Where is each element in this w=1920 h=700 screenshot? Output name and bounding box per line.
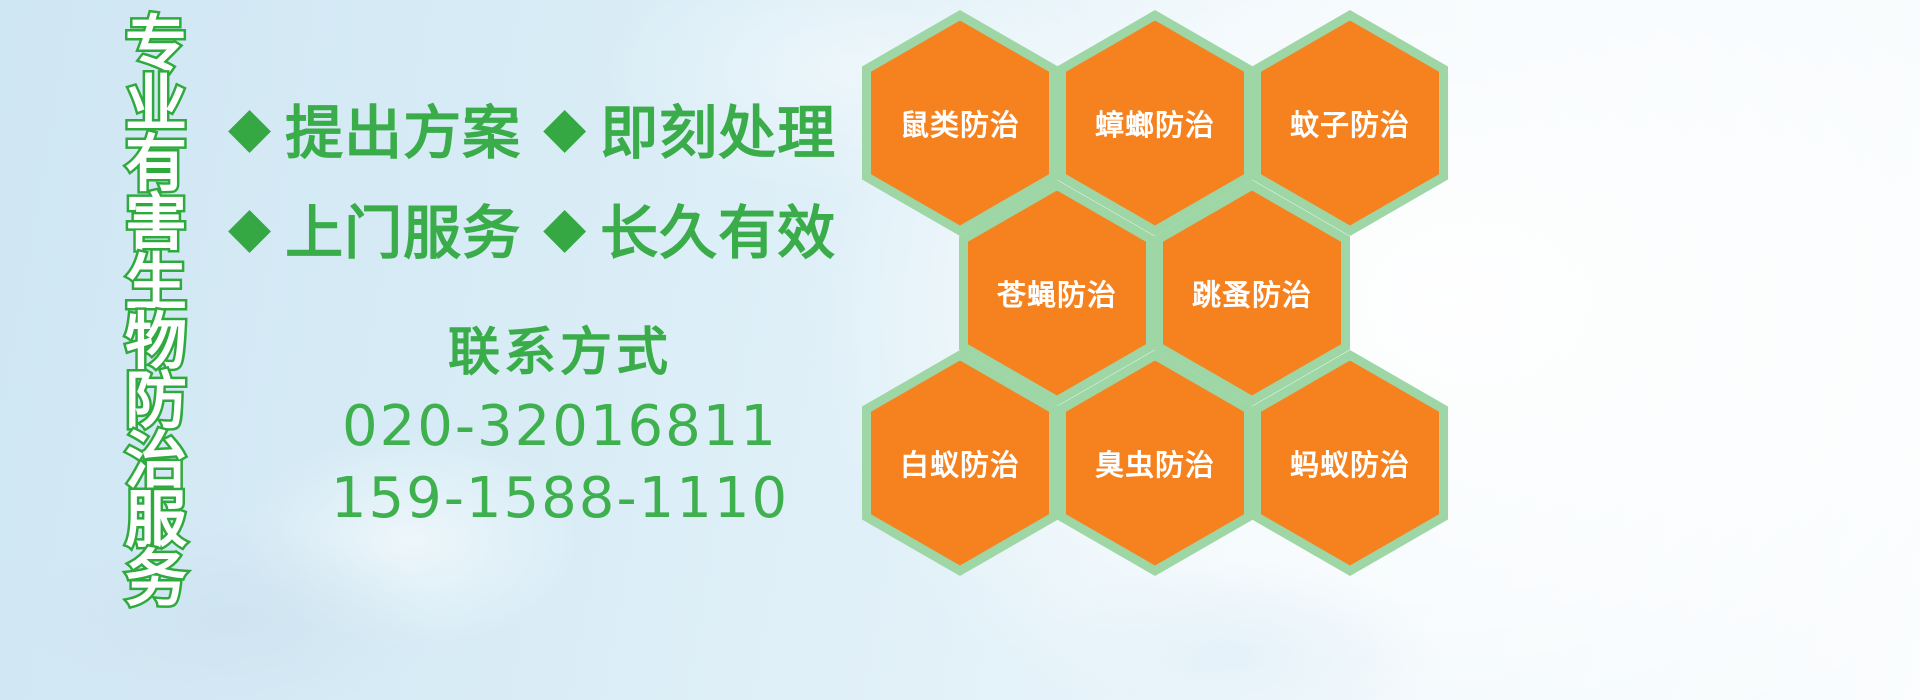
service-hex-fill: 蚊子防治: [1261, 21, 1439, 226]
service-hex-fill: 跳蚤防治: [1163, 191, 1341, 396]
vertical-headline-char: 治: [125, 430, 187, 491]
diamond-bullet-icon: ◆: [228, 100, 271, 156]
vertical-headline: 专 业 有 害 生 物 防 治 服 务: [108, 14, 204, 608]
pest-control-banner: 专 业 有 害 生 物 防 治 服 务 ◆ 提出方案 ◆ 即刻处理 ◆ 上门服务: [0, 0, 1920, 700]
background-blob: [20, 520, 440, 700]
service-hex-fill: 蚂蚁防治: [1261, 361, 1439, 566]
service-hex-label: 苍蝇防治: [997, 272, 1117, 314]
phone-number-landline[interactable]: 020-32016811: [300, 391, 820, 463]
background-blob: [1020, 560, 1440, 700]
phone-number-mobile[interactable]: 159-1588-1110: [300, 463, 820, 535]
service-hex-label: 蟑螂防治: [1095, 102, 1215, 144]
feature-bullet-label: 上门服务: [285, 186, 521, 270]
feature-bullet-label: 长久有效: [600, 186, 836, 270]
service-hex-fill: 白蚁防治: [871, 361, 1049, 566]
service-hex-label: 蚂蚁防治: [1290, 442, 1410, 484]
feature-bullet-item: ◆ 提出方案: [228, 86, 521, 170]
service-hex-label: 臭虫防治: [1095, 442, 1215, 484]
service-hex-label: 跳蚤防治: [1192, 272, 1312, 314]
feature-bullet-item: ◆ 上门服务: [228, 186, 521, 270]
feature-bullet-item: ◆ 即刻处理: [543, 86, 836, 170]
vertical-headline-char: 业: [125, 73, 187, 134]
vertical-headline-char: 有: [125, 133, 187, 194]
service-honeycomb: 鼠类防治 蟑螂防治 蚊子防治 苍蝇防治 跳蚤防治 白蚁防治: [862, 2, 1462, 562]
vertical-headline-char: 务: [125, 548, 187, 609]
vertical-headline-char: 害: [125, 192, 187, 253]
service-hex-fill: 臭虫防治: [1066, 361, 1244, 566]
service-hex-fill: 苍蝇防治: [968, 191, 1146, 396]
service-hex-fill: 鼠类防治: [871, 21, 1049, 226]
feature-bullet-item: ◆ 长久有效: [543, 186, 836, 270]
diamond-bullet-icon: ◆: [543, 100, 586, 156]
contact-heading: 联系方式: [300, 310, 820, 385]
vertical-headline-char: 生: [125, 252, 187, 313]
vertical-headline-char: 防: [125, 370, 187, 431]
service-hex-label: 蚊子防治: [1290, 102, 1410, 144]
feature-bullet-row: ◆ 上门服务 ◆ 长久有效: [228, 178, 868, 278]
service-hex-label: 白蚁防治: [900, 442, 1020, 484]
feature-bullet-label: 提出方案: [285, 86, 521, 170]
feature-bullet-list: ◆ 提出方案 ◆ 即刻处理 ◆ 上门服务 ◆ 长久有效: [228, 78, 868, 278]
diamond-bullet-icon: ◆: [228, 200, 271, 256]
feature-bullet-label: 即刻处理: [600, 86, 836, 170]
service-hex-fill: 蟑螂防治: [1066, 21, 1244, 226]
service-hex-label: 鼠类防治: [900, 102, 1020, 144]
contact-block: 联系方式 020-32016811 159-1588-1110: [300, 310, 820, 534]
diamond-bullet-icon: ◆: [543, 200, 586, 256]
feature-bullet-row: ◆ 提出方案 ◆ 即刻处理: [228, 78, 868, 178]
